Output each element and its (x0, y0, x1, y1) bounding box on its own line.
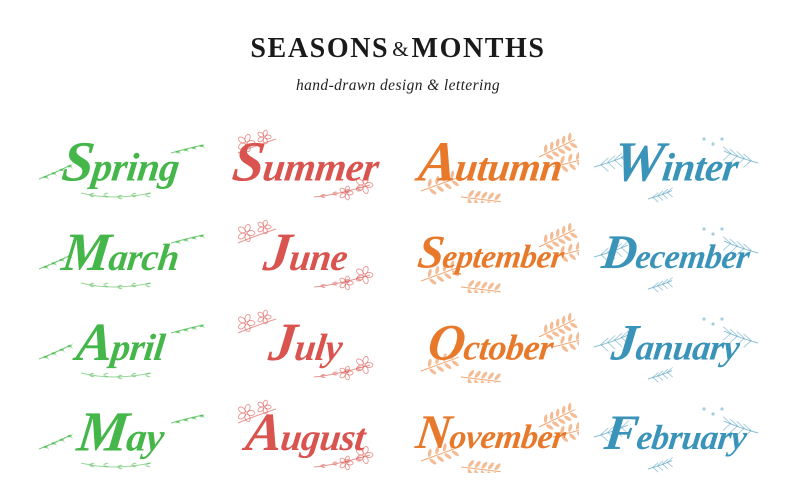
lettering-remainder: pril (108, 327, 166, 369)
lettering-word-april: April (73, 316, 168, 370)
lettering-remainder: inter (659, 145, 740, 190)
lettering-artwork: February (588, 393, 764, 473)
lettering-remainder: ctober (461, 327, 555, 367)
lettering-cell-december[interactable]: December (583, 208, 768, 298)
lettering-artwork: April (33, 303, 209, 383)
lettering-remainder: arch (106, 237, 181, 279)
lettering-initial: W (609, 131, 666, 194)
lettering-cell-october[interactable]: October (398, 298, 583, 388)
lettering-artwork: January (588, 303, 764, 383)
title-ampersand: & (389, 37, 411, 61)
lettering-remainder: une (286, 237, 349, 279)
lettering-cell-september[interactable]: September (398, 208, 583, 298)
lettering-artwork: November (403, 393, 579, 473)
lettering-remainder: uly (292, 327, 344, 369)
title-word-seasons: SEASONS (250, 33, 389, 64)
lettering-remainder: ugust (278, 417, 367, 459)
lettering-artwork: June (218, 213, 394, 293)
lettering-remainder: utumn (452, 145, 564, 190)
lettering-word-february: February (602, 408, 750, 458)
lettering-artwork: December (588, 213, 764, 293)
lettering-initial: M (59, 222, 113, 282)
lettering-artwork: September (403, 213, 579, 293)
lettering-artwork: Summer (218, 123, 394, 203)
lettering-remainder: ebruary (634, 418, 748, 457)
lettering-artwork: Spring (33, 123, 209, 203)
lettering-word-october: October (425, 317, 556, 368)
lettering-cell-february[interactable]: February (583, 388, 768, 478)
lettering-artwork: Autumn (403, 123, 579, 203)
lettering-artwork: Winter (588, 123, 764, 203)
lettering-cell-august[interactable]: August (213, 388, 398, 478)
lettering-word-autumn: Autumn (415, 135, 565, 192)
lettering-word-december: December (599, 229, 752, 277)
lettering-cell-spring[interactable]: Spring (28, 118, 213, 208)
lettering-word-august: August (243, 406, 369, 460)
lettering-artwork: May (33, 393, 209, 473)
lettering-word-march: March (59, 226, 182, 280)
lettering-cell-march[interactable]: March (28, 208, 213, 298)
lettering-cell-summer[interactable]: Summer (213, 118, 398, 208)
lettering-word-january: January (609, 317, 743, 368)
lettering-remainder: anuary (633, 327, 741, 367)
lettering-remainder: ay (124, 415, 166, 460)
lettering-initial: M (74, 401, 131, 464)
lettering-cell-autumn[interactable]: Autumn (398, 118, 583, 208)
lettering-cell-june[interactable]: June (213, 208, 398, 298)
poster-canvas: SEASONS&MONTHS hand-drawn design & lette… (0, 0, 796, 500)
lettering-cell-january[interactable]: January (583, 298, 768, 388)
lettering-remainder: ovember (447, 419, 567, 456)
lettering-cell-winter[interactable]: Winter (583, 118, 768, 208)
page-subtitle: hand-drawn design & lettering (0, 77, 796, 95)
lettering-word-september: September (415, 230, 566, 277)
lettering-word-june: June (260, 226, 350, 280)
lettering-remainder: ecember (633, 239, 751, 276)
lettering-artwork: August (218, 393, 394, 473)
title-word-months: MONTHS (412, 33, 546, 64)
lettering-cell-july[interactable]: July (213, 298, 398, 388)
lettering-remainder: pring (89, 145, 181, 190)
lettering-artwork: March (33, 213, 209, 293)
lettering-word-summer: Summer (229, 135, 382, 192)
lettering-artwork: October (403, 303, 579, 383)
lettering-word-spring: Spring (58, 135, 182, 192)
lettering-word-may: May (74, 405, 167, 462)
lettering-cell-april[interactable]: April (28, 298, 213, 388)
lettering-cell-may[interactable]: May (28, 388, 213, 478)
lettering-grid: SpringSummerAutumnWinterMarchJuneSeptemb… (28, 118, 768, 478)
lettering-remainder: ummer (260, 145, 381, 190)
lettering-cell-november[interactable]: November (398, 388, 583, 478)
lettering-artwork: July (218, 303, 394, 383)
page-title: SEASONS&MONTHS (0, 34, 796, 65)
lettering-word-winter: Winter (610, 135, 742, 192)
poster-header: SEASONS&MONTHS hand-drawn design & lette… (0, 34, 796, 95)
lettering-remainder: eptember (440, 240, 565, 276)
lettering-word-july: July (266, 316, 346, 370)
lettering-word-november: November (413, 409, 568, 457)
